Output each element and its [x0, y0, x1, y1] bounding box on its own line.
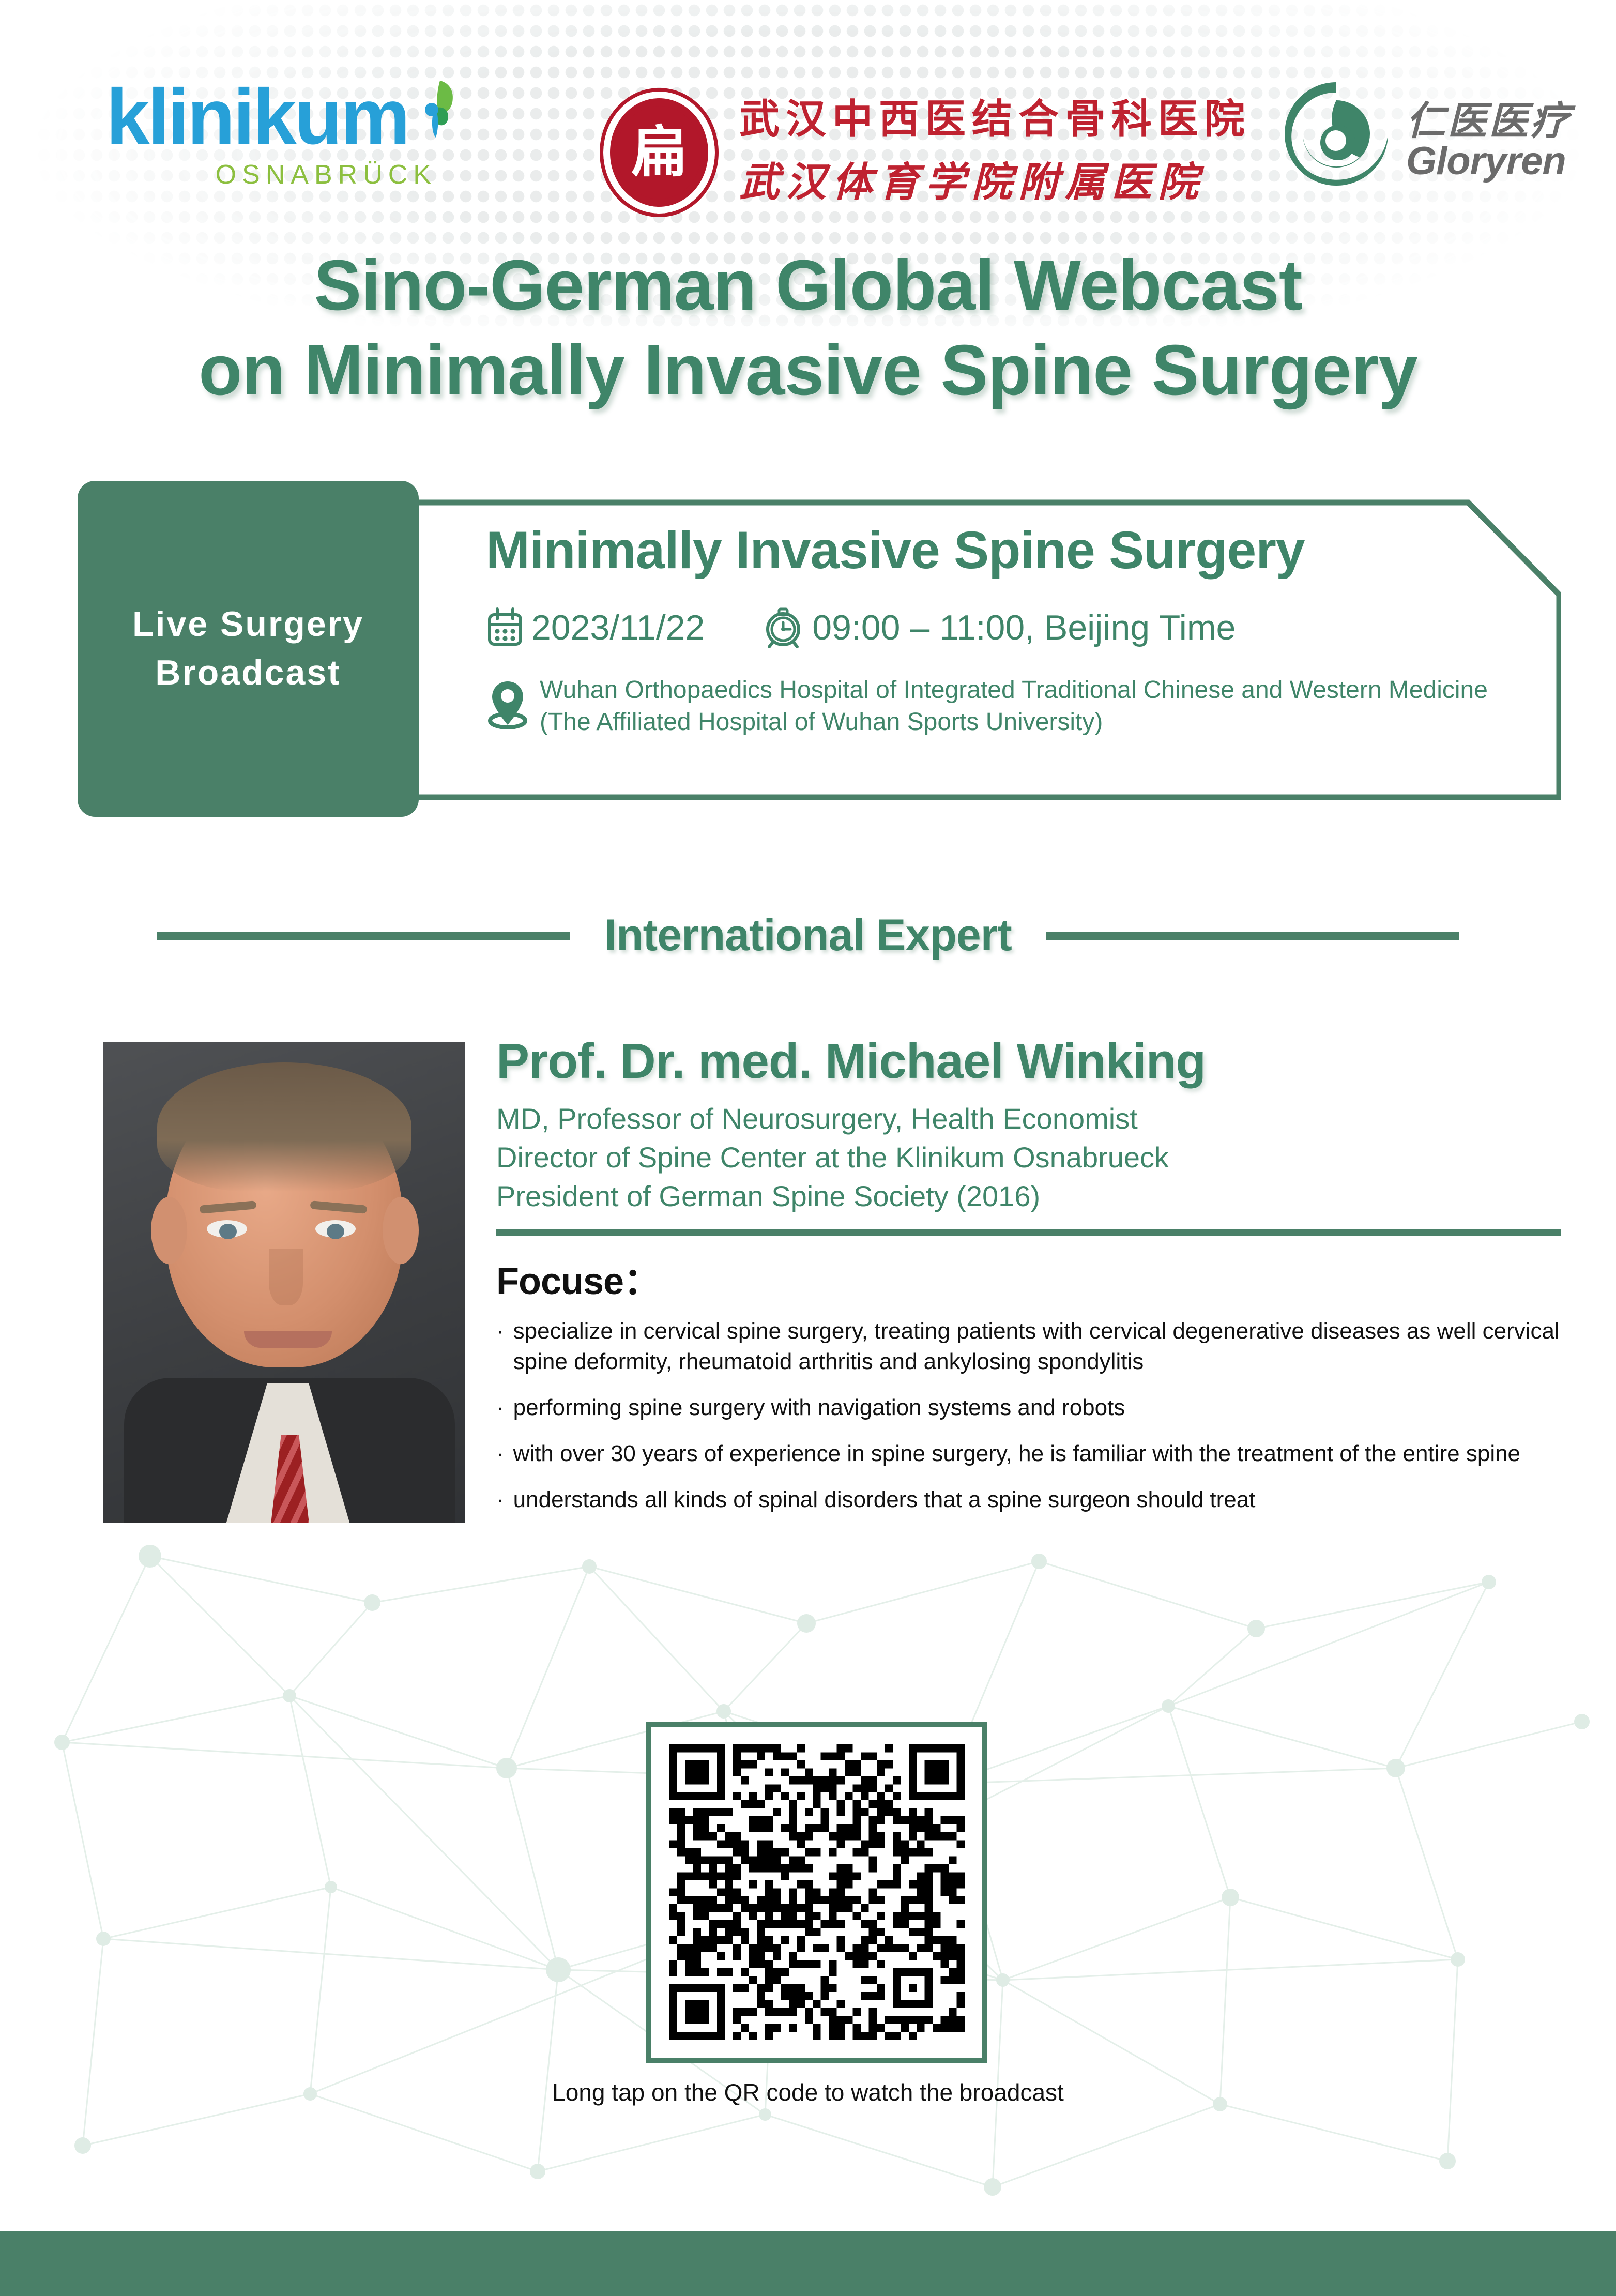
focus-bullet-icon: · — [496, 1393, 504, 1423]
focus-item: · understands all kinds of spinal disord… — [496, 1485, 1561, 1515]
footer-bar — [0, 2231, 1616, 2296]
wuhan-hospital-logo: 扁 武汉中西医结合骨科医院 武汉体育学院附属医院 — [600, 72, 1210, 222]
event-card-body: Minimally Invasive Spine Surgery 2023/11… — [486, 521, 1525, 738]
focus-bullet-icon: · — [496, 1316, 504, 1346]
plus-cross-icon — [416, 78, 463, 140]
international-expert-heading: International Expert — [604, 910, 1012, 961]
calendar-icon — [486, 607, 524, 648]
event-venue: Wuhan Orthopaedics Hospital of Integrate… — [486, 674, 1525, 738]
gloryren-name-en: Gloryren — [1406, 139, 1566, 184]
focus-item-text: specialize in cervical spine surgery, tr… — [513, 1316, 1561, 1377]
logo-row: klinikum OSNABRÜCK 扁 武汉中西医结合骨科医院 武汉体育学院附… — [0, 67, 1616, 222]
expert-portrait-photo — [103, 1042, 465, 1523]
credential-line-2: Director of Spine Center at the Klinikum… — [496, 1138, 1561, 1177]
klinikum-logo: klinikum OSNABRÜCK — [106, 78, 468, 217]
expert-name: Prof. Dr. med. Michael Winking — [496, 1034, 1561, 1089]
international-expert-divider: International Expert — [0, 910, 1616, 961]
spiral-swirl-icon — [1282, 80, 1391, 188]
qr-code-icon[interactable] — [646, 1722, 987, 2063]
title-line-2: on Minimally Invasive Spine Surgery — [0, 328, 1616, 413]
event-date: 2023/11/22 — [486, 607, 705, 648]
expert-info: Prof. Dr. med. Michael Winking MD, Profe… — [496, 1034, 1561, 1530]
gloryren-logo: 仁医医疗 Gloryren — [1282, 78, 1603, 217]
live-surgery-badge: Live Surgery Broadcast — [78, 481, 419, 817]
live-badge-line-1: Live Surgery — [132, 600, 364, 649]
credential-line-1: MD, Professor of Neurosurgery, Health Ec… — [496, 1099, 1561, 1138]
event-time: 09:00 – 11:00, Beijing Time — [761, 606, 1236, 649]
wuhan-hospital-name-cn: 武汉中西医结合骨科医院 — [739, 87, 1251, 145]
event-time-label: 09:00 – 11:00, Beijing Time — [812, 607, 1236, 648]
focus-item: · with over 30 years of experience in sp… — [496, 1439, 1561, 1469]
live-badge-line-2: Broadcast — [155, 649, 341, 697]
event-card: Live Surgery Broadcast Minimally Invasiv… — [78, 481, 1561, 817]
venue-line-1: Wuhan Orthopaedics Hospital of Integrate… — [540, 674, 1488, 706]
credential-line-3: President of German Spine Society (2016) — [496, 1177, 1561, 1215]
focus-item: · performing spine surgery with navigati… — [496, 1393, 1561, 1423]
divider-rule-right — [1046, 932, 1459, 940]
event-title: Minimally Invasive Spine Surgery — [486, 521, 1525, 579]
klinikum-subtitle: OSNABRÜCK — [106, 159, 437, 190]
map-pin-icon — [486, 677, 529, 733]
page-title: Sino-German Global Webcast on Minimally … — [0, 243, 1616, 413]
focus-item-text: with over 30 years of experience in spin… — [513, 1439, 1520, 1469]
focus-list: · specialize in cervical spine surgery, … — [496, 1316, 1561, 1515]
focus-item: · specialize in cervical spine surgery, … — [496, 1316, 1561, 1377]
focus-item-text: understands all kinds of spinal disorder… — [513, 1485, 1256, 1515]
divider-rule-left — [157, 932, 570, 940]
venue-line-2: (The Affiliated Hospital of Wuhan Sports… — [540, 706, 1488, 738]
event-meta-row: 2023/11/22 09:00 – 11:00, Beijing Time — [486, 606, 1525, 649]
event-venue-text: Wuhan Orthopaedics Hospital of Integrate… — [540, 674, 1488, 738]
title-line-1: Sino-German Global Webcast — [0, 243, 1616, 328]
qr-caption: Long tap on the QR code to watch the bro… — [0, 2078, 1616, 2106]
focus-heading: Focuse： — [496, 1251, 1561, 1305]
qr-code-canvas[interactable] — [669, 1744, 965, 2040]
wuhan-hospital-affiliate-cn: 武汉体育学院附属医院 — [739, 150, 1205, 208]
focus-item-text: performing spine surgery with navigation… — [513, 1393, 1125, 1423]
expert-credentials: MD, Professor of Neurosurgery, Health Ec… — [496, 1099, 1561, 1215]
hospital-seal-icon: 扁 — [600, 88, 719, 217]
alarm-clock-icon — [761, 606, 805, 649]
klinikum-wordmark: klinikum — [106, 78, 468, 156]
focus-bullet-icon: · — [496, 1485, 504, 1515]
credentials-divider — [496, 1229, 1561, 1236]
event-date-label: 2023/11/22 — [531, 607, 705, 648]
focus-bullet-icon: · — [496, 1439, 504, 1469]
gloryren-name-cn: 仁医医疗 — [1406, 89, 1572, 146]
